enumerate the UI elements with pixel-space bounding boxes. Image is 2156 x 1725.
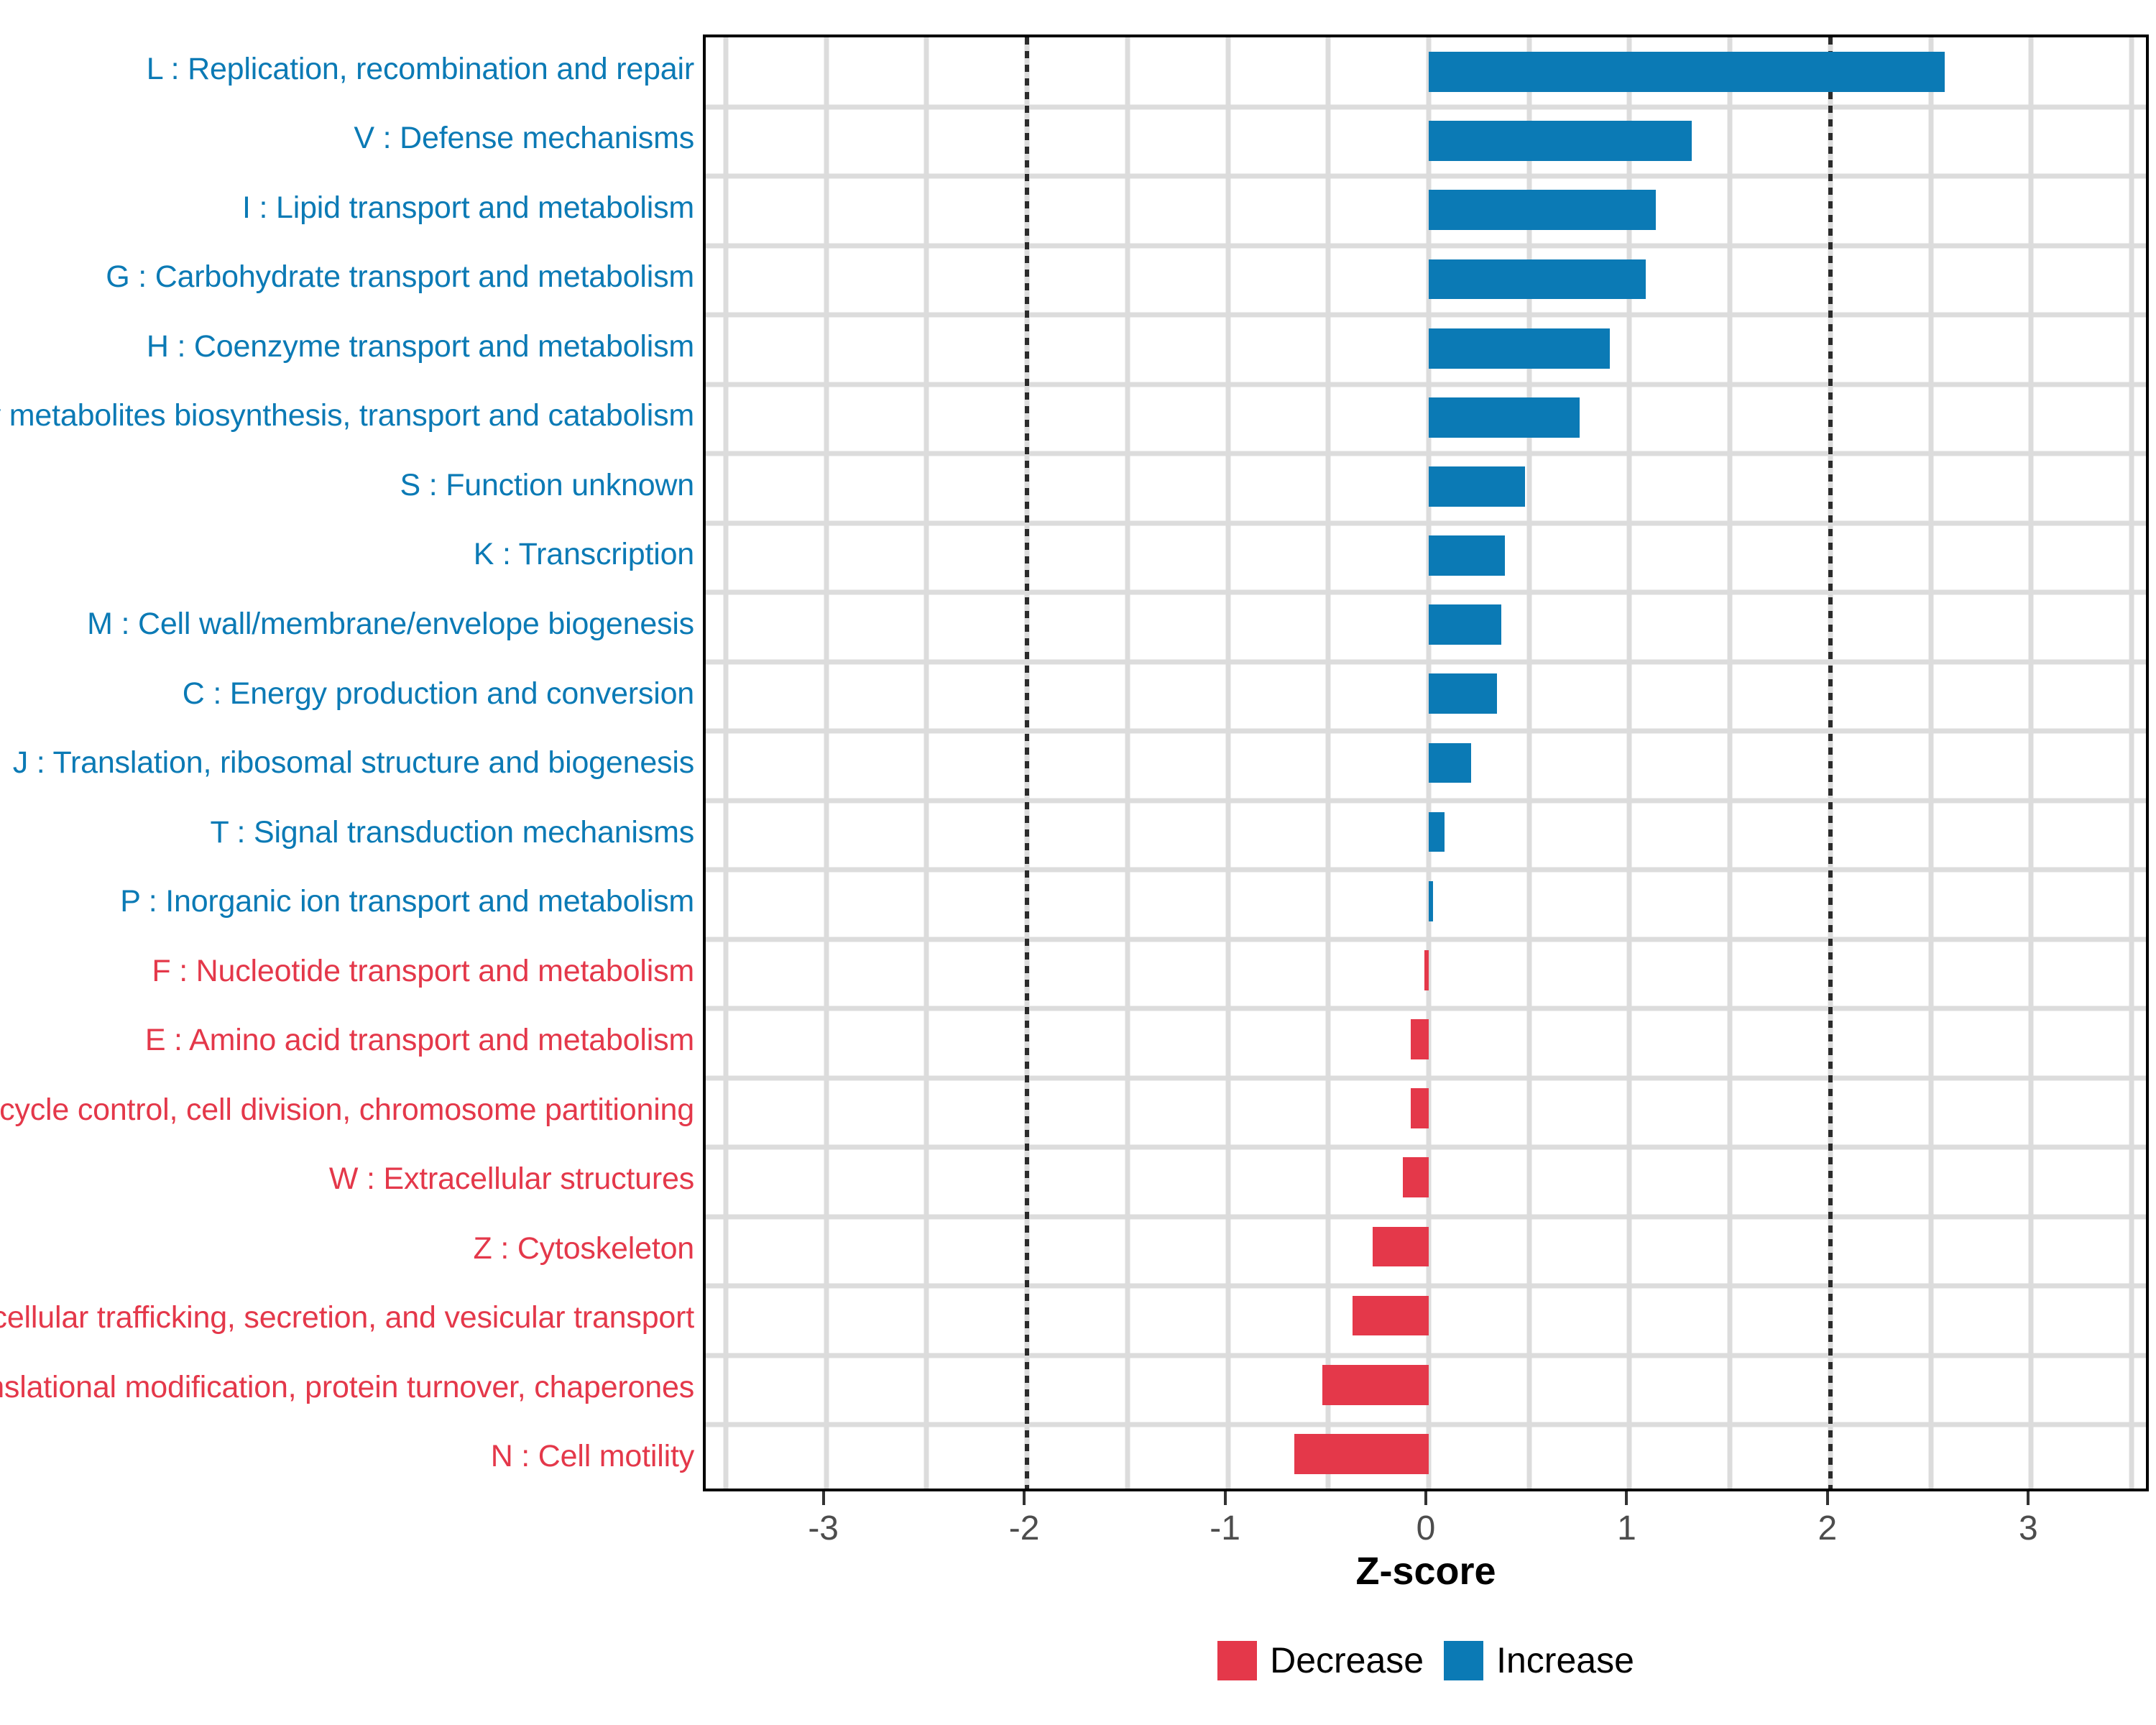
bar-row: [706, 175, 2146, 244]
legend-item[interactable]: Increase: [1444, 1639, 1634, 1681]
category-label-row: E : Amino acid transport and metabolism: [0, 1006, 703, 1075]
legend-swatch: [1217, 1641, 1257, 1680]
bar-row: [706, 37, 2146, 106]
bar[interactable]: [1429, 743, 1471, 783]
bar[interactable]: [1429, 52, 1945, 92]
x-tick-label: 1: [1617, 1509, 1636, 1548]
bar[interactable]: [1294, 1434, 1429, 1474]
category-label: K : Transcription: [474, 539, 694, 570]
bars-layer: [706, 37, 2146, 1489]
category-label-row: F : Nucleotide transport and metabolism: [0, 937, 703, 1006]
category-label: D : Cell cycle control, cell division, c…: [0, 1095, 694, 1126]
category-label-row: G : Carbohydrate transport and metabolis…: [0, 243, 703, 313]
category-label: V : Defense mechanisms: [354, 123, 694, 154]
category-label: U : Intracellular trafficking, secretion…: [0, 1302, 694, 1333]
bar[interactable]: [1411, 1088, 1429, 1128]
x-axis-title: Z-score: [703, 1549, 2149, 1593]
bar-row: [706, 798, 2146, 867]
bar-row: [706, 521, 2146, 590]
bar[interactable]: [1403, 1157, 1429, 1197]
category-label-row: P : Inorganic ion transport and metaboli…: [0, 867, 703, 937]
category-label-row: U : Intracellular trafficking, secretion…: [0, 1284, 703, 1353]
bar-row: [706, 728, 2146, 797]
plot-panel: [703, 34, 2149, 1491]
category-label: N : Cell motility: [491, 1441, 694, 1472]
category-label: C : Energy production and conversion: [183, 678, 694, 709]
x-tick-mark: [822, 1491, 825, 1505]
bar[interactable]: [1373, 1227, 1429, 1267]
category-label: S : Function unknown: [400, 470, 694, 501]
x-tick-label: -3: [808, 1509, 839, 1548]
bar-row: [706, 1282, 2146, 1351]
x-tick-mark: [2027, 1491, 2030, 1505]
category-label: L : Replication, recombination and repai…: [147, 54, 694, 85]
bar-row: [706, 1351, 2146, 1420]
category-label: E : Amino acid transport and metabolism: [145, 1025, 694, 1056]
x-tick-label: 3: [2019, 1509, 2038, 1548]
category-label: F : Nucleotide transport and metabolism: [152, 956, 694, 987]
bar-row: [706, 590, 2146, 659]
bar[interactable]: [1429, 535, 1505, 576]
bar[interactable]: [1429, 259, 1646, 300]
category-label-row: M : Cell wall/membrane/envelope biogenes…: [0, 589, 703, 659]
chart-root: L : Replication, recombination and repai…: [0, 0, 2156, 1725]
bar-row: [706, 452, 2146, 521]
category-label-row: T : Signal transduction mechanisms: [0, 798, 703, 868]
category-label-row: C : Energy production and conversion: [0, 659, 703, 729]
bar[interactable]: [1429, 604, 1501, 645]
category-label-row: W : Extracellular structures: [0, 1145, 703, 1215]
category-label: Z : Cytoskeleton: [474, 1233, 694, 1264]
category-label: T : Signal transduction mechanisms: [210, 817, 694, 848]
x-tick-mark: [1424, 1491, 1427, 1505]
category-label-row: D : Cell cycle control, cell division, c…: [0, 1075, 703, 1145]
bar-row: [706, 1420, 2146, 1489]
bar[interactable]: [1429, 121, 1692, 161]
bar[interactable]: [1424, 950, 1429, 990]
x-tick-mark: [1224, 1491, 1227, 1505]
bar-row: [706, 1143, 2146, 1212]
category-label-row: L : Replication, recombination and repai…: [0, 34, 703, 104]
category-label-row: Q : Secondary metabolites biosynthesis, …: [0, 382, 703, 451]
category-label-row: J : Translation, ribosomal structure and…: [0, 728, 703, 798]
category-label: H : Coenzyme transport and metabolism: [147, 331, 694, 362]
x-tick-label: 0: [1416, 1509, 1436, 1548]
bar[interactable]: [1429, 397, 1580, 438]
category-label-row: Z : Cytoskeleton: [0, 1214, 703, 1284]
category-label: J : Translation, ribosomal structure and…: [13, 747, 694, 778]
category-label-row: S : Function unknown: [0, 451, 703, 520]
bar-row: [706, 314, 2146, 383]
bar-row: [706, 244, 2146, 313]
bar[interactable]: [1429, 881, 1433, 921]
category-label-row: K : Transcription: [0, 520, 703, 590]
bar[interactable]: [1353, 1296, 1429, 1336]
category-label-row: N : Cell motility: [0, 1422, 703, 1492]
category-label: G : Carbohydrate transport and metabolis…: [106, 262, 694, 293]
category-label-row: H : Coenzyme transport and metabolism: [0, 312, 703, 382]
category-label: P : Inorganic ion transport and metaboli…: [120, 886, 694, 917]
x-tick-mark: [1625, 1491, 1628, 1505]
bar[interactable]: [1429, 673, 1497, 714]
bar[interactable]: [1429, 466, 1525, 507]
bar-row: [706, 383, 2146, 452]
category-label: Q : Secondary metabolites biosynthesis, …: [0, 400, 694, 431]
x-tick-mark: [1023, 1491, 1026, 1505]
bar-row: [706, 1005, 2146, 1074]
legend-label: Decrease: [1270, 1639, 1424, 1681]
bar[interactable]: [1411, 1019, 1429, 1059]
category-label: M : Cell wall/membrane/envelope biogenes…: [87, 609, 694, 640]
x-tick-label: -1: [1210, 1509, 1240, 1548]
bar-row: [706, 867, 2146, 936]
category-label-row: O : Posttranslational modification, prot…: [0, 1353, 703, 1422]
bar-row: [706, 1074, 2146, 1143]
category-label-row: I : Lipid transport and metabolism: [0, 173, 703, 243]
category-label-row: V : Defense mechanisms: [0, 104, 703, 174]
bar-row: [706, 936, 2146, 1005]
chart-legend: DecreaseIncrease: [703, 1628, 2149, 1693]
legend-swatch: [1444, 1641, 1483, 1680]
category-label: O : Posttranslational modification, prot…: [0, 1372, 694, 1403]
bar-row: [706, 659, 2146, 728]
x-tick-label: -2: [1009, 1509, 1040, 1548]
x-tick-label: 2: [1818, 1509, 1838, 1548]
x-tick-mark: [1826, 1491, 1829, 1505]
bar[interactable]: [1429, 328, 1610, 369]
bar[interactable]: [1429, 190, 1656, 230]
legend-label: Increase: [1496, 1639, 1634, 1681]
category-label: W : Extracellular structures: [329, 1164, 694, 1195]
bar-row: [706, 1212, 2146, 1281]
category-label-column: L : Replication, recombination and repai…: [0, 34, 703, 1491]
bar-row: [706, 106, 2146, 175]
category-label: I : Lipid transport and metabolism: [242, 193, 694, 224]
legend-item[interactable]: Decrease: [1217, 1639, 1424, 1681]
bar[interactable]: [1429, 812, 1445, 852]
bar[interactable]: [1322, 1365, 1429, 1405]
